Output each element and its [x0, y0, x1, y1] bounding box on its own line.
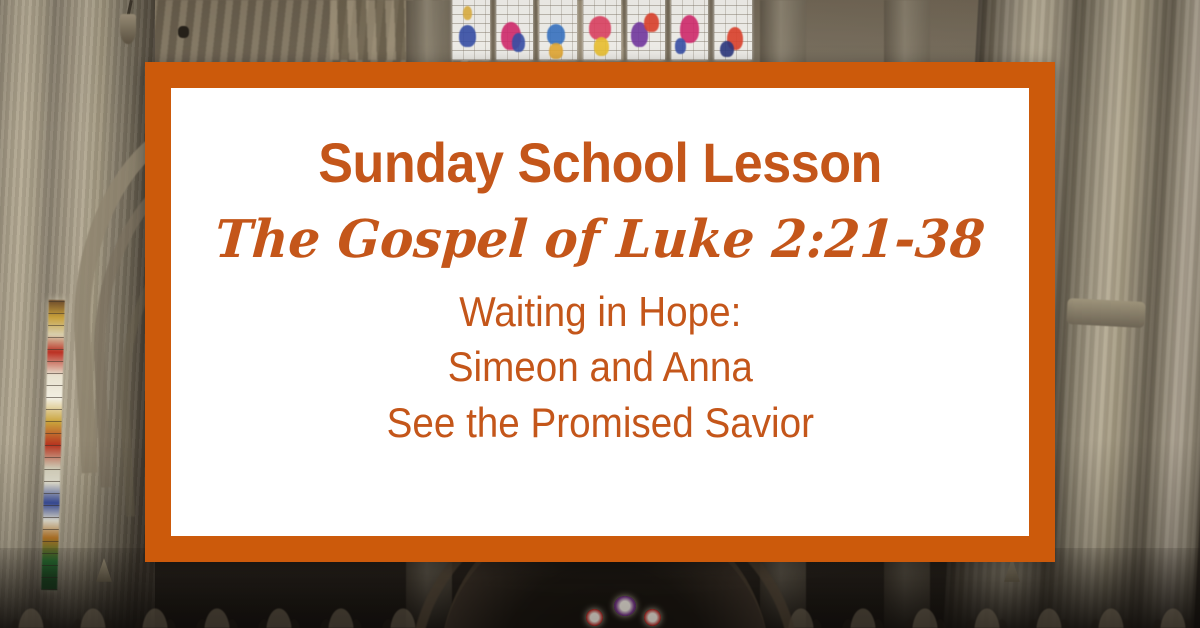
scripture-reference: The Gospel of Luke 2:21-38 [213, 213, 986, 268]
tracery-arcade-left [0, 552, 440, 628]
subtitle-line-1: Waiting in Hope: [386, 284, 813, 339]
rose-window-center [614, 596, 636, 616]
subtitle-line-3: See the Promised Savior [386, 395, 813, 450]
glass-figure [512, 33, 525, 52]
tracery-arcade-right [770, 552, 1200, 628]
lesson-subtitle: Waiting in Hope: Simeon and Anna See the… [386, 284, 813, 450]
glass-figure [459, 25, 476, 47]
glass-figure [463, 6, 472, 20]
rose-window-right [644, 609, 661, 626]
lancet-window-7 [714, 0, 752, 60]
glass-figure [594, 37, 609, 56]
hanging-lamp [178, 26, 189, 38]
lancet-window-4 [583, 0, 621, 60]
lancet-window-1 [452, 0, 490, 60]
lesson-headline: Sunday School Lesson [318, 134, 882, 191]
glass-figure [675, 38, 686, 53]
wall-shield-plaque [120, 14, 136, 44]
column-capital-upper [1066, 298, 1145, 328]
subtitle-line-2: Simeon and Anna [386, 339, 813, 394]
lancet-window-5 [627, 0, 665, 60]
lancet-window-6 [671, 0, 709, 60]
rose-window-left [586, 609, 603, 626]
glass-figure [720, 41, 734, 58]
title-card: Sunday School Lesson The Gospel of Luke … [171, 88, 1029, 536]
glass-figure [549, 43, 563, 58]
glass-figure [547, 24, 565, 44]
glass-figure [644, 13, 658, 32]
lancet-window-2 [496, 0, 534, 60]
clerestory-windows [452, 0, 752, 60]
lancet-window-3 [539, 0, 577, 60]
title-card-frame: Sunday School Lesson The Gospel of Luke … [145, 62, 1055, 562]
banner-canvas: Sunday School Lesson The Gospel of Luke … [0, 0, 1200, 628]
